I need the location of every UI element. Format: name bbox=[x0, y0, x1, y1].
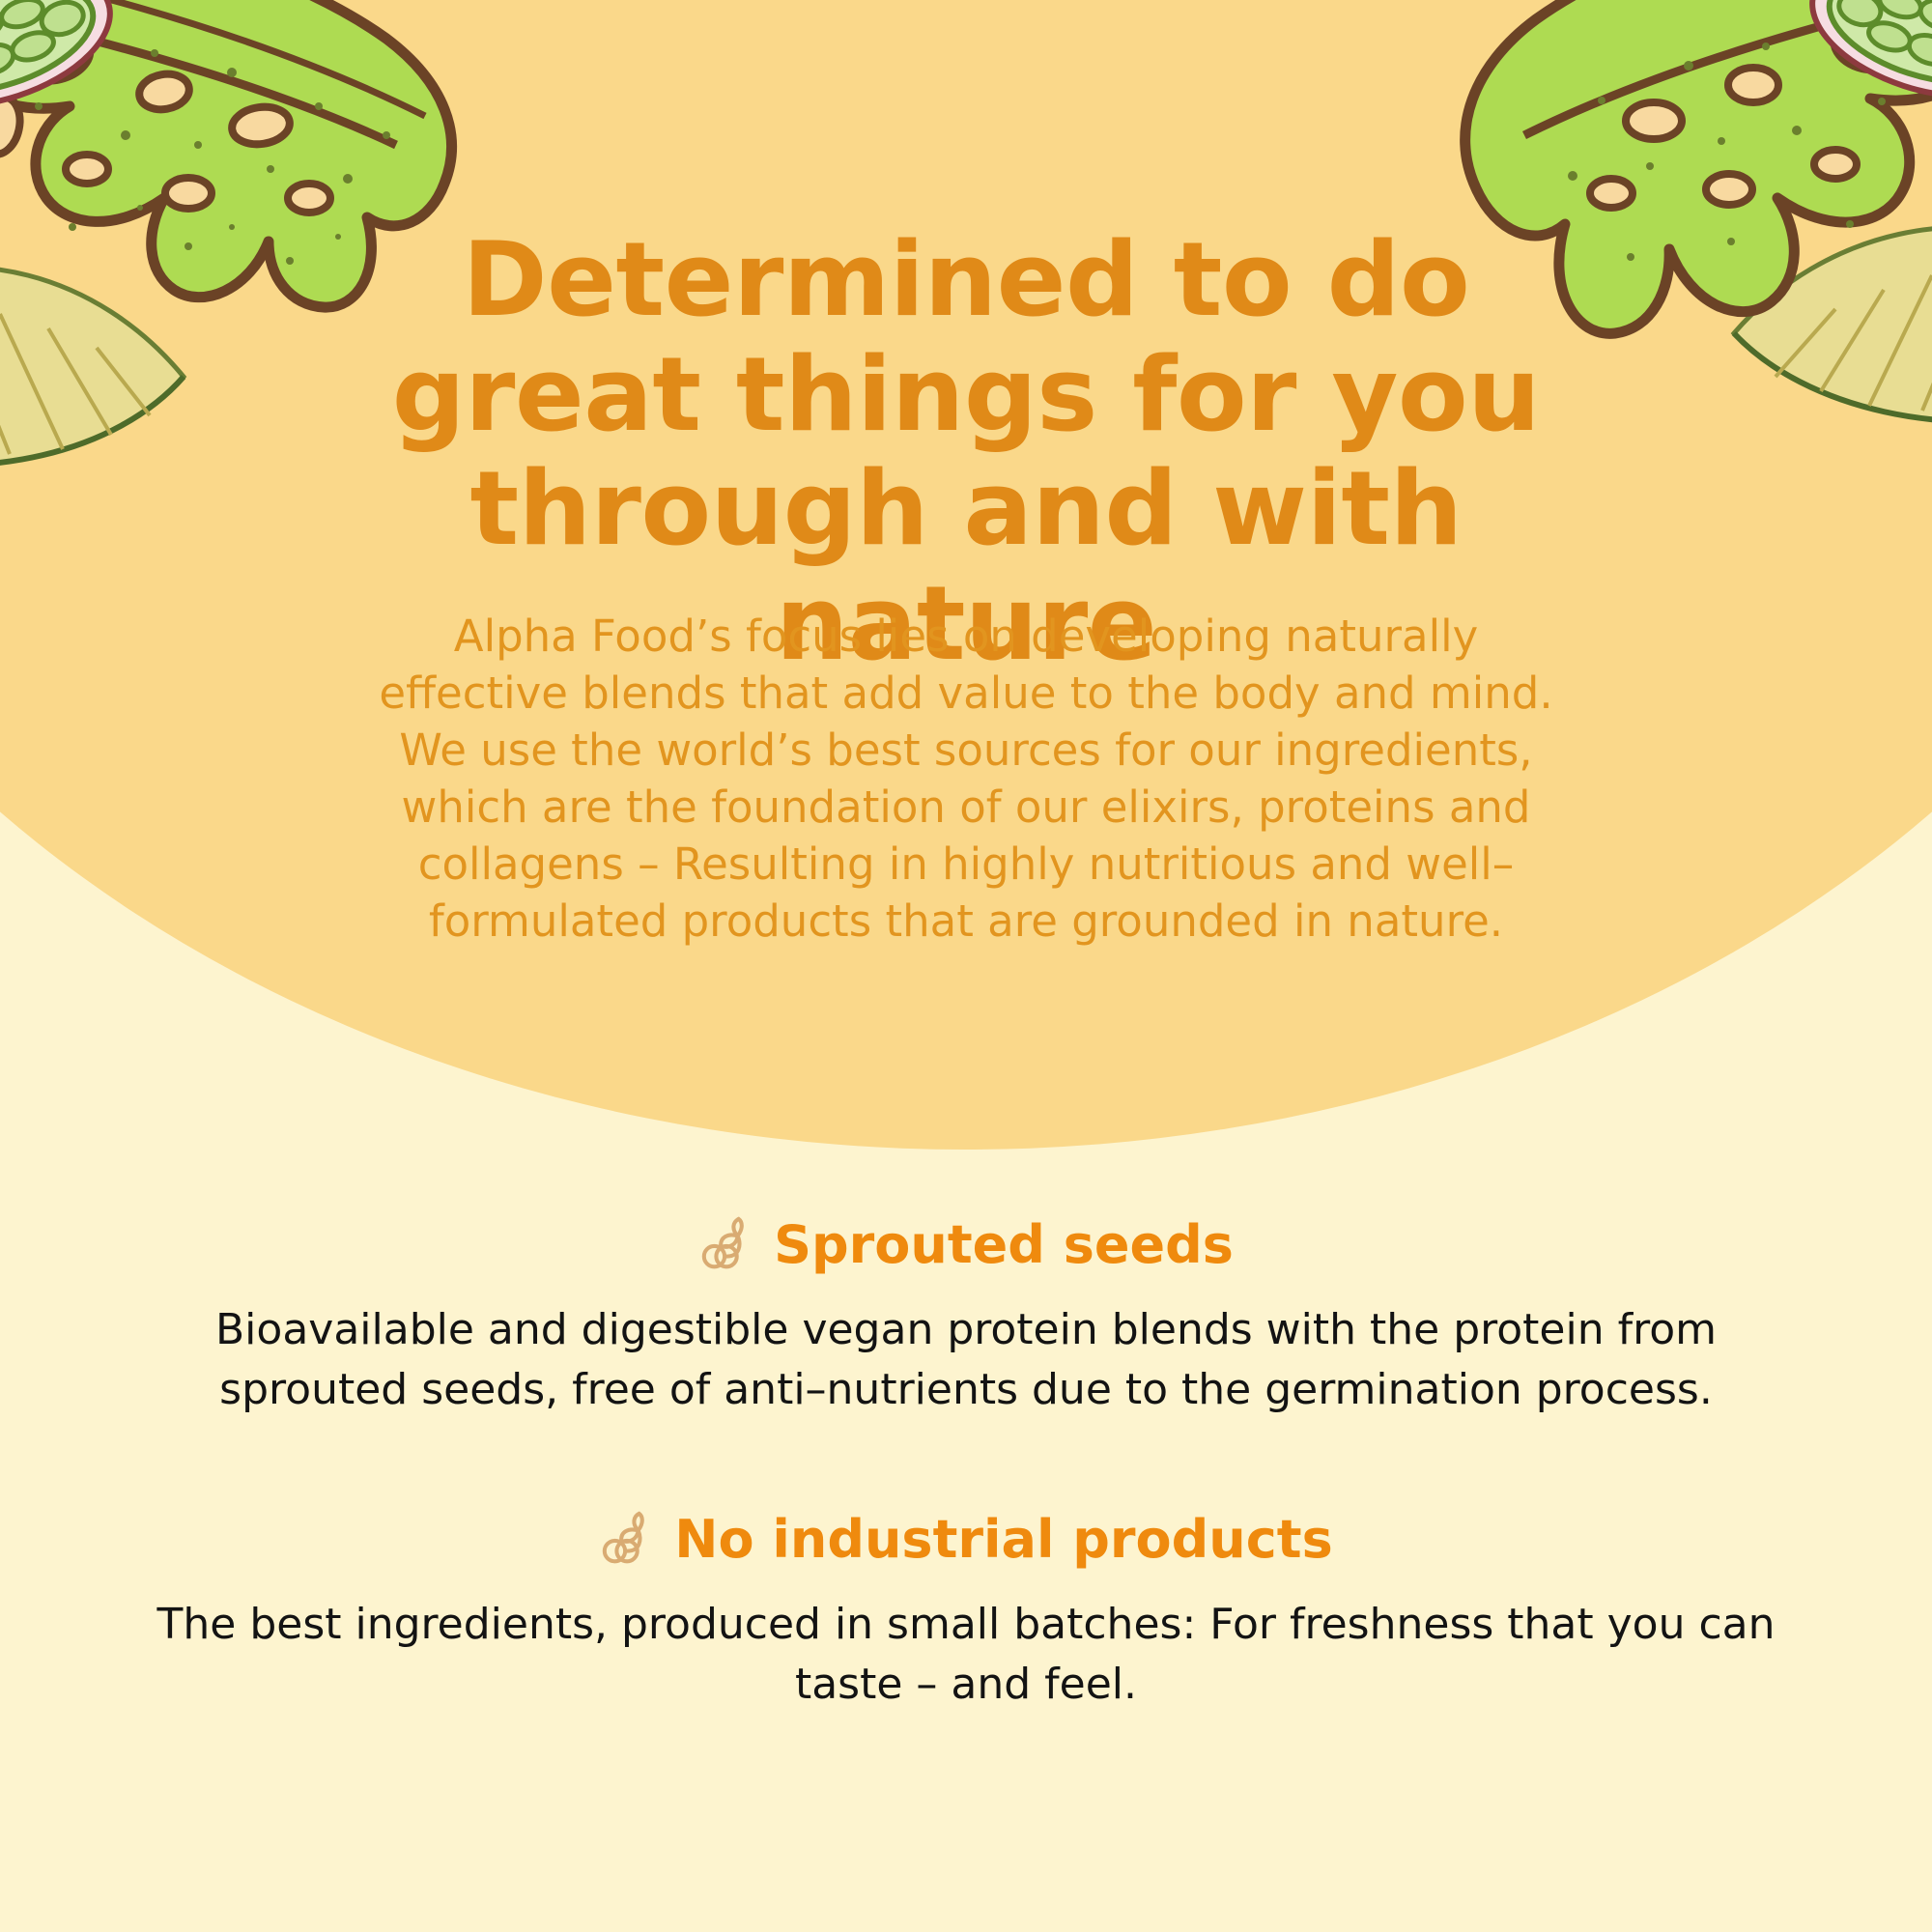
feature-description: The best ingredients, produced in small … bbox=[150, 1595, 1782, 1716]
feature-description: Bioavailable and digestible vegan protei… bbox=[150, 1300, 1782, 1421]
intro-paragraph: Alpha Food’s focus lies on developing na… bbox=[353, 609, 1579, 951]
feature-heading-row: No industrial products bbox=[97, 1510, 1835, 1570]
sprouting-seed-icon bbox=[698, 1215, 758, 1275]
headline-line-1: Determined to do bbox=[290, 223, 1642, 338]
feature-title: No industrial products bbox=[674, 1514, 1332, 1566]
sprouting-seed-icon bbox=[599, 1510, 659, 1570]
feature-item-no-industrial-products: No industrial products The best ingredie… bbox=[97, 1510, 1835, 1716]
feature-title: Sprouted seeds bbox=[774, 1219, 1234, 1271]
feature-list: Sprouted seeds Bioavailable and digestib… bbox=[97, 1215, 1835, 1716]
feature-heading-row: Sprouted seeds bbox=[97, 1215, 1835, 1275]
feature-item-sprouted-seeds: Sprouted seeds Bioavailable and digestib… bbox=[97, 1215, 1835, 1421]
headline-line-2: great things for you bbox=[290, 338, 1642, 453]
promo-page: Determined to do great things for you th… bbox=[0, 0, 1932, 1932]
